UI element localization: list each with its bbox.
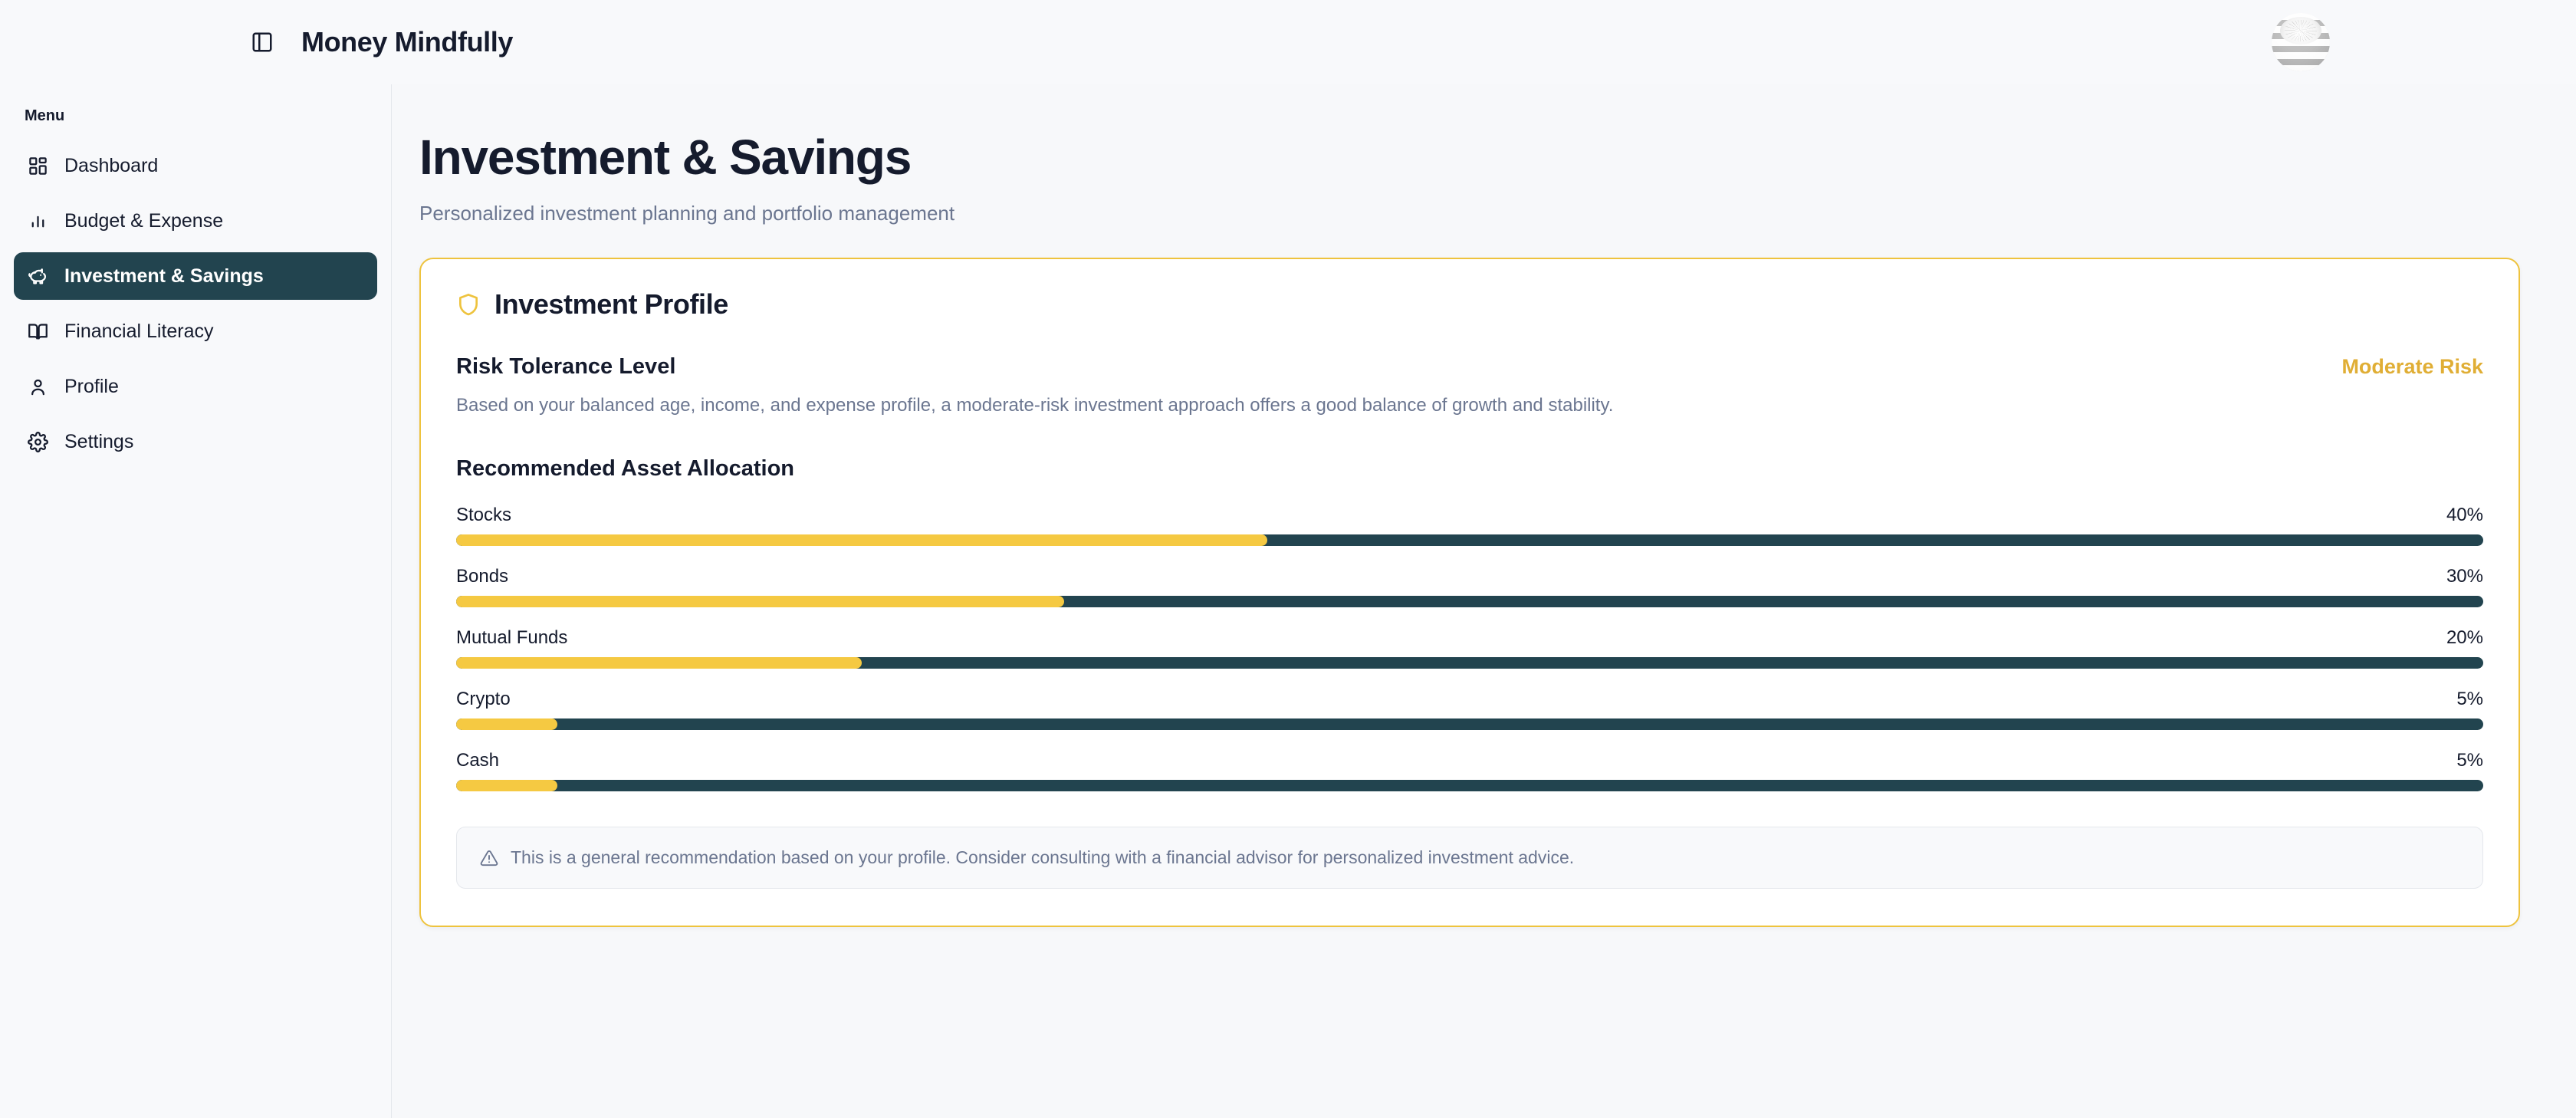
card-title: Investment Profile (495, 288, 728, 321)
allocation-row-header: Mutual Funds20% (456, 627, 2483, 649)
allocation-asset-name: Crypto (456, 689, 511, 710)
allocation-progress-track (456, 657, 2483, 669)
user-icon (26, 375, 49, 398)
allocation-row: Stocks40% (456, 505, 2483, 546)
shield-icon (456, 292, 481, 317)
allocation-progress-fill (456, 657, 862, 669)
allocation-percent-value: 20% (2446, 627, 2483, 649)
allocation-progress-fill (456, 718, 557, 730)
sidebar-item-label: Financial Literacy (64, 321, 214, 343)
sidebar-item-settings[interactable]: Settings (14, 418, 377, 465)
gear-icon (26, 430, 49, 453)
allocation-row-header: Bonds30% (456, 566, 2483, 587)
allocation-row: Cash5% (456, 750, 2483, 791)
allocation-row: Bonds30% (456, 566, 2483, 607)
alert-triangle-icon (480, 849, 498, 867)
avatar-dome-detail (2280, 17, 2322, 44)
page-title: Investment & Savings (419, 132, 2521, 183)
allocation-title: Recommended Asset Allocation (456, 456, 2483, 482)
allocation-row-header: Stocks40% (456, 505, 2483, 526)
avatar[interactable] (2272, 13, 2330, 71)
sidebar-item-label: Budget & Expense (64, 210, 223, 232)
sidebar-item-dashboard[interactable]: Dashboard (14, 142, 377, 189)
piggy-bank-icon (26, 265, 49, 288)
allocation-asset-name: Bonds (456, 566, 508, 587)
disclaimer-box: This is a general recommendation based o… (456, 827, 2483, 889)
allocation-progress-fill (456, 780, 557, 791)
sidebar-item-label: Profile (64, 376, 119, 398)
allocation-percent-value: 5% (2456, 689, 2483, 710)
allocation-progress-track (456, 596, 2483, 607)
page-subtitle: Personalized investment planning and por… (419, 202, 2521, 225)
sidebar-item-label: Investment & Savings (64, 265, 264, 288)
layout-grid-icon (26, 154, 49, 177)
allocation-row-header: Crypto5% (456, 689, 2483, 710)
allocation-percent-value: 5% (2456, 750, 2483, 771)
book-open-icon (26, 320, 49, 343)
allocation-asset-name: Stocks (456, 505, 511, 526)
allocation-row: Crypto5% (456, 689, 2483, 730)
allocation-row-header: Cash5% (456, 750, 2483, 771)
bar-chart-icon (26, 209, 49, 232)
sidebar-item-budget-expense[interactable]: Budget & Expense (14, 197, 377, 245)
allocation-percent-value: 40% (2446, 505, 2483, 526)
panel-left-icon (251, 31, 274, 54)
sidebar-item-investment-savings[interactable]: Investment & Savings (14, 252, 377, 300)
risk-description: Based on your balanced age, income, and … (456, 395, 2483, 416)
allocation-progress-fill (456, 534, 1267, 546)
main-content: Investment & Savings Personalized invest… (392, 84, 2576, 1118)
card-header: Investment Profile (456, 288, 2483, 321)
top-bar: Money Mindfully (0, 0, 2576, 84)
risk-status-badge: Moderate Risk (2341, 355, 2483, 379)
allocation-progress-track (456, 534, 2483, 546)
allocation-row: Mutual Funds20% (456, 627, 2483, 669)
sidebar-toggle-button[interactable] (245, 25, 279, 59)
risk-tolerance-label: Risk Tolerance Level (456, 354, 675, 380)
sidebar-item-financial-literacy[interactable]: Financial Literacy (14, 307, 377, 355)
sidebar-section-label: Menu (0, 107, 391, 125)
sidebar: Menu Dashboard Budget & Expense (0, 84, 392, 1118)
sidebar-item-profile[interactable]: Profile (14, 363, 377, 410)
allocation-asset-name: Mutual Funds (456, 627, 567, 649)
sidebar-item-label: Settings (64, 431, 133, 453)
risk-tolerance-row: Risk Tolerance Level Moderate Risk (456, 354, 2483, 380)
investment-profile-card: Investment Profile Risk Tolerance Level … (419, 258, 2520, 927)
allocation-progress-fill (456, 596, 1064, 607)
asset-allocation-list: Stocks40%Bonds30%Mutual Funds20%Crypto5%… (456, 505, 2483, 791)
disclaimer-text: This is a general recommendation based o… (511, 847, 1574, 868)
allocation-percent-value: 30% (2446, 566, 2483, 587)
allocation-progress-track (456, 780, 2483, 791)
allocation-progress-track (456, 718, 2483, 730)
app-title: Money Mindfully (301, 26, 513, 58)
avatar-image (2272, 13, 2330, 71)
sidebar-item-label: Dashboard (64, 155, 158, 177)
allocation-asset-name: Cash (456, 750, 499, 771)
